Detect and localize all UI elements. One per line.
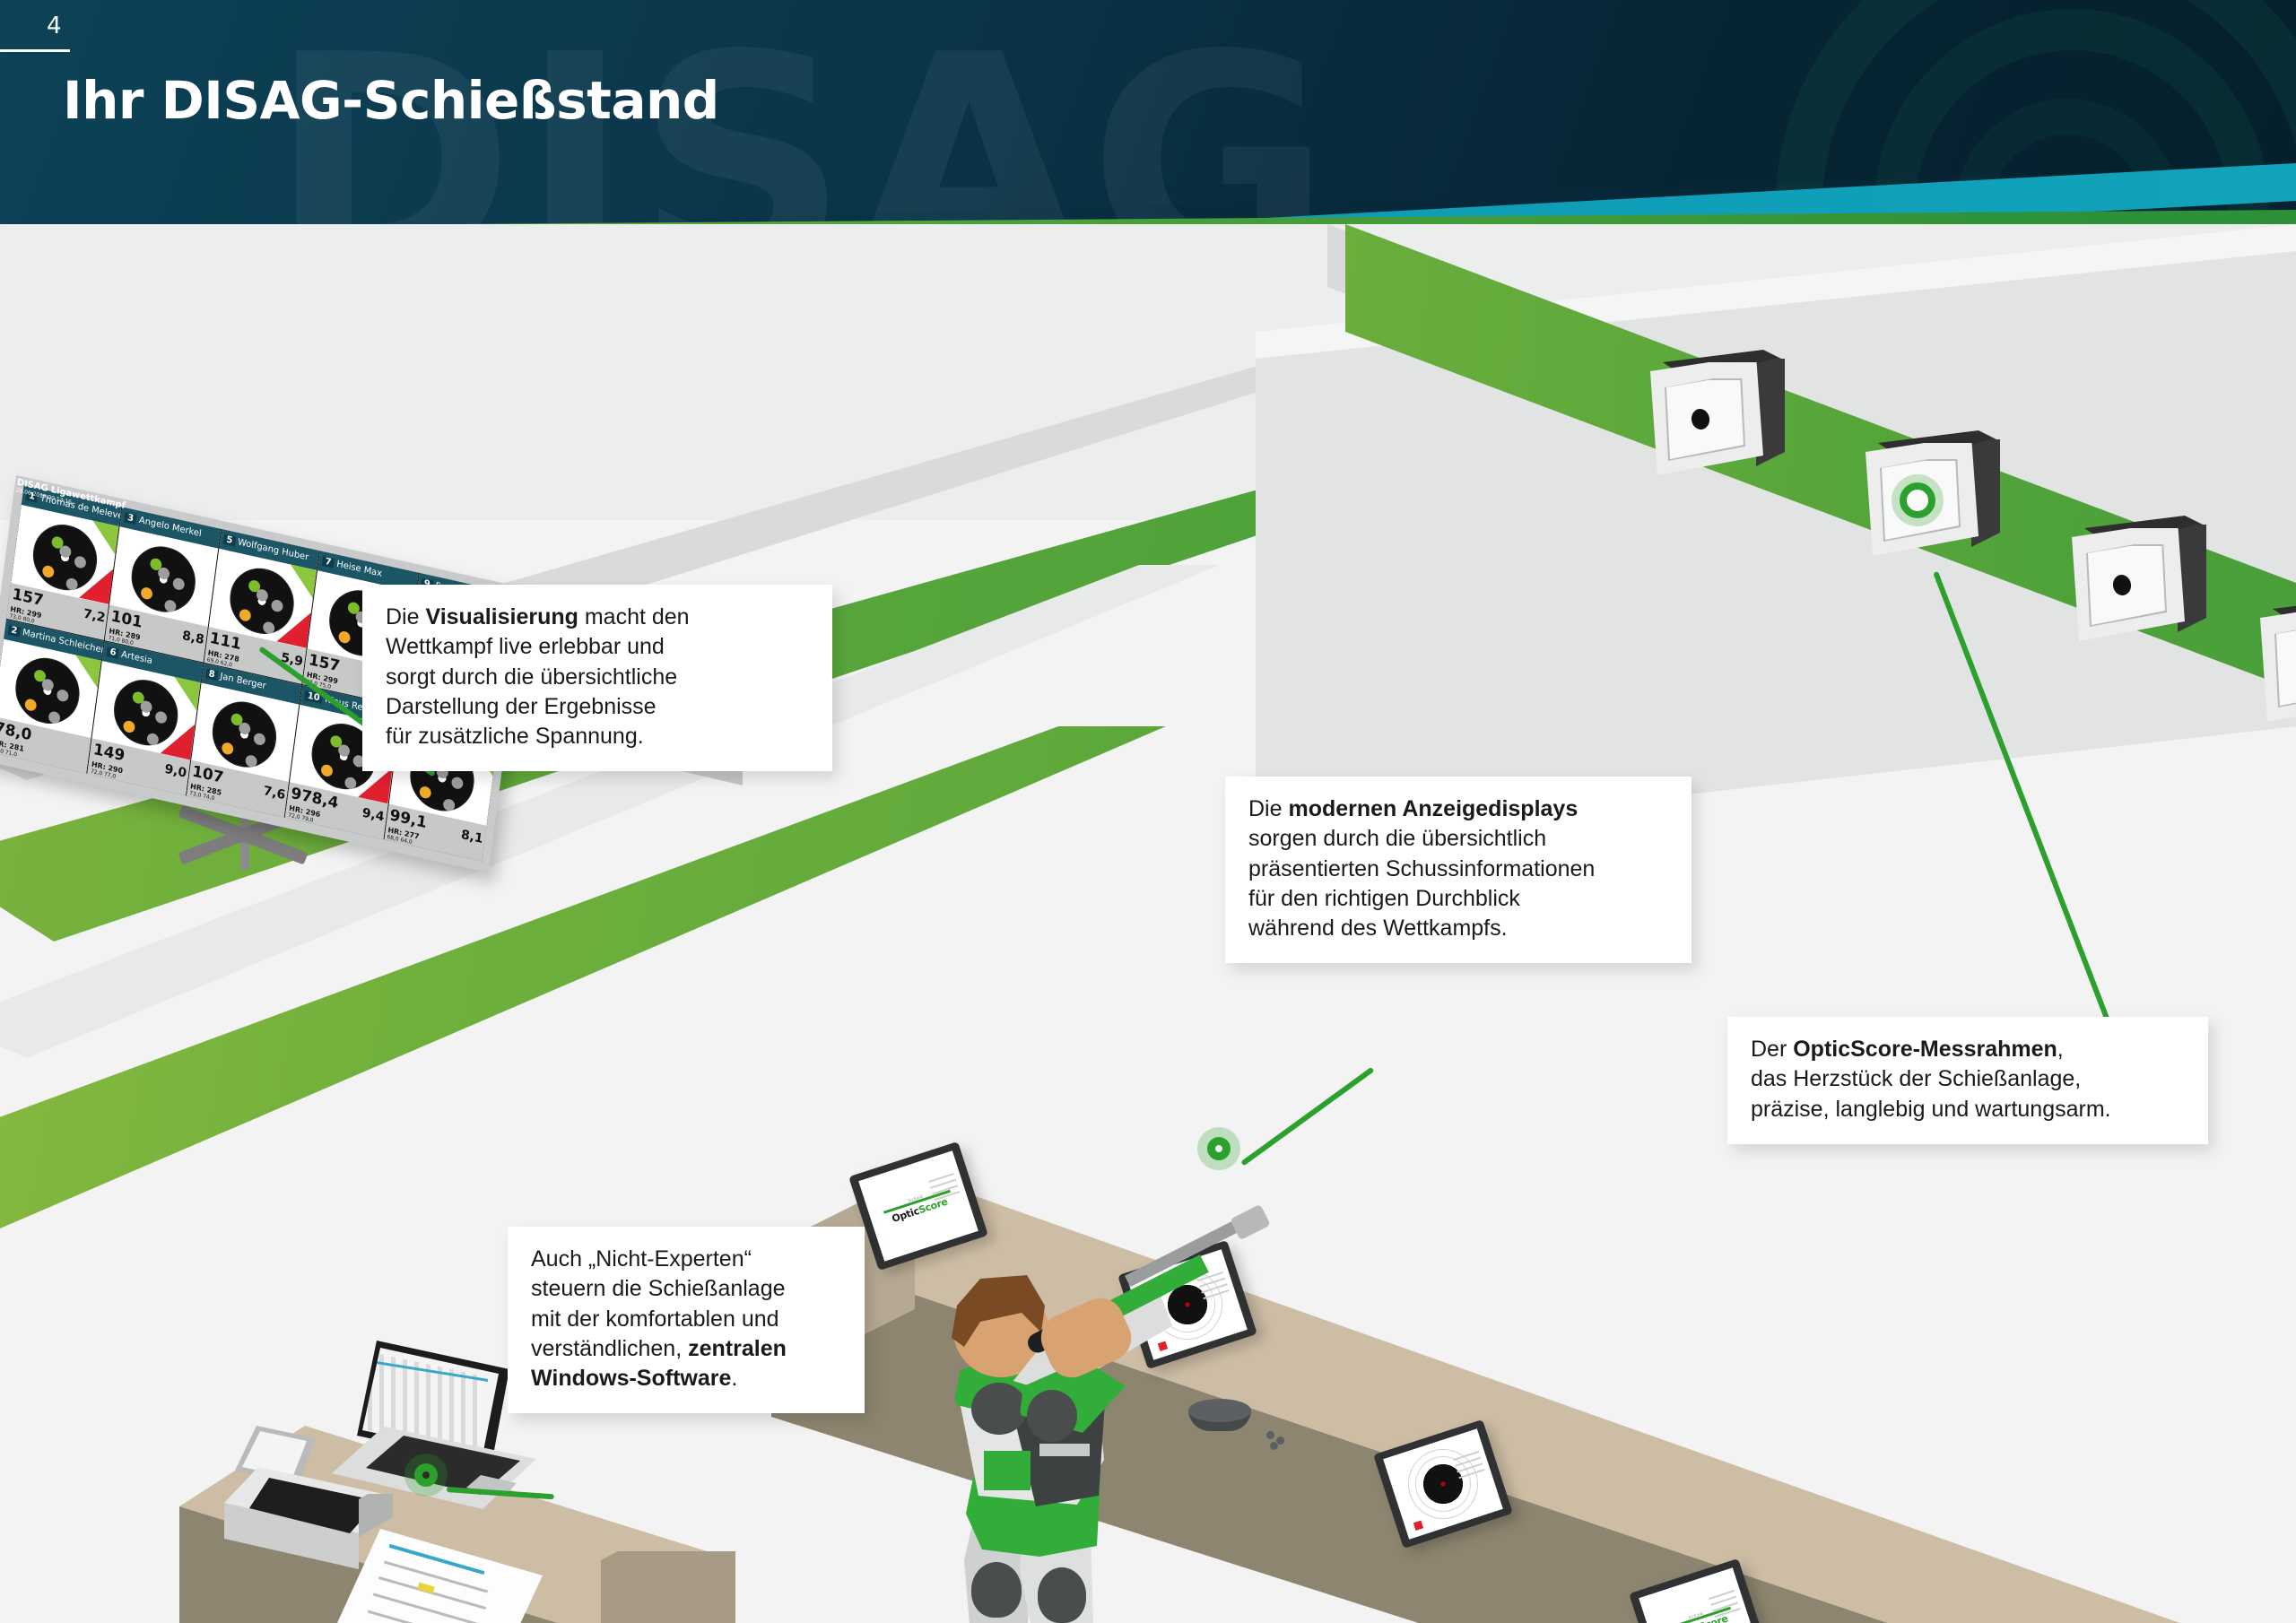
shot-marker bbox=[158, 566, 170, 580]
shot-marker bbox=[239, 608, 252, 622]
shot-marker bbox=[451, 777, 464, 791]
control-desk-right bbox=[592, 1551, 753, 1623]
sheet-row bbox=[384, 1561, 488, 1593]
shot-marker bbox=[74, 555, 86, 569]
shot-marker bbox=[24, 698, 37, 712]
lane-number: 7 bbox=[322, 556, 335, 568]
callout-line: Die modernen Anzeigedisplays bbox=[1248, 794, 1668, 824]
lane-last-shot: 8,1 bbox=[460, 828, 483, 846]
callout-line: Die Visualisierung macht den bbox=[386, 603, 809, 632]
callout-text: Darstellung der Ergebnisse bbox=[386, 694, 657, 719]
wall-target-frame-1 bbox=[1650, 350, 1785, 493]
callout-emphasis: zentralen bbox=[688, 1336, 787, 1361]
status-indicator bbox=[1413, 1521, 1423, 1531]
monitor-lane-cell: 8Jan Berger107HR: 28573,0 74,07,6 bbox=[187, 663, 302, 817]
callout-text: Der bbox=[1751, 1037, 1793, 1062]
shot-marker bbox=[164, 599, 177, 613]
lane-target-graphic bbox=[209, 696, 281, 774]
monitor-lane-cell: 6Artesia149HR: 29072,0 77,09,0 bbox=[88, 641, 204, 795]
shot-marker bbox=[263, 621, 275, 635]
callout-anzeigedisplays: Die modernen Anzeigedisplayssorgen durch… bbox=[1225, 777, 1692, 963]
shot-marker bbox=[338, 630, 351, 645]
lane-shooter-name: Artesia bbox=[121, 649, 153, 666]
callout-text: verständlichen, bbox=[531, 1336, 688, 1361]
callout-text: für zusätzliche Spannung. bbox=[386, 724, 644, 749]
callout-line: für den richtigen Durchblick bbox=[1248, 884, 1668, 914]
lane-last-shot: 9,4 bbox=[361, 805, 385, 824]
shot-marker bbox=[245, 754, 257, 768]
callout-text: während des Wettkampfs. bbox=[1248, 916, 1508, 941]
callout-line: das Herzstück der Schießanlage, bbox=[1751, 1064, 2185, 1094]
callout-text: , bbox=[2057, 1037, 2064, 1062]
lane-number: 8 bbox=[205, 668, 218, 681]
lane-number: 2 bbox=[8, 624, 21, 637]
shot-marker bbox=[154, 710, 167, 725]
callout-text: sorgen durch die übersichtlich bbox=[1248, 826, 1546, 851]
page-title: Ihr DISAG-Schießstand bbox=[63, 70, 719, 131]
shot-marker bbox=[222, 742, 234, 756]
callout-text: Die bbox=[1248, 796, 1288, 821]
vest-strap-3 bbox=[1039, 1444, 1090, 1456]
shot-marker bbox=[271, 599, 283, 613]
shot-marker bbox=[48, 710, 60, 725]
callout-line: für zusätzliche Spannung. bbox=[386, 722, 809, 751]
lane-number: 3 bbox=[125, 512, 137, 525]
wall-target-frame-2 bbox=[1865, 430, 2000, 574]
shooter-figure bbox=[901, 1228, 1224, 1623]
callout-emphasis: modernen Anzeigedisplays bbox=[1288, 796, 1578, 821]
callout-emphasis: Visualisierung bbox=[425, 604, 578, 629]
callout-line: steuern die Schießanlage bbox=[531, 1274, 841, 1304]
page-number: 4 bbox=[47, 13, 62, 39]
shot-marker bbox=[320, 764, 333, 778]
callout-line: Auch „Nicht-Experten“ bbox=[531, 1245, 841, 1274]
callout-text: mit der komfortablen und bbox=[531, 1306, 779, 1332]
shot-marker bbox=[344, 777, 357, 791]
callout-opticscore-messrahmen: Der OpticScore-Messrahmen,das Herzstück … bbox=[1727, 1017, 2208, 1144]
callout-text: steuern die Schießanlage bbox=[531, 1276, 786, 1301]
callout-line: während des Wettkampfs. bbox=[1248, 914, 1668, 943]
connector-dot-display bbox=[1207, 1137, 1231, 1160]
lane-target-graphic bbox=[29, 518, 100, 596]
lane-last-shot: 7,2 bbox=[83, 606, 106, 625]
callout-text: Wettkampf live erlebbar und bbox=[386, 634, 665, 659]
lane-target-graphic bbox=[12, 652, 83, 730]
lane-target-graphic bbox=[110, 673, 182, 751]
callout-text: Auch „Nicht-Experten“ bbox=[531, 1246, 752, 1271]
callout-line: Windows-Software. bbox=[531, 1364, 841, 1393]
callout-text: für den richtigen Durchblick bbox=[1248, 886, 1520, 911]
shooter-elbow-pad-back bbox=[971, 1383, 1027, 1435]
callout-windows-software: Auch „Nicht-Experten“steuern die Schießa… bbox=[508, 1227, 865, 1413]
lane-number: 6 bbox=[107, 647, 119, 659]
connector-dot-software bbox=[414, 1463, 438, 1487]
shot-marker bbox=[65, 577, 78, 591]
shot-marker bbox=[443, 798, 456, 812]
shot-marker bbox=[146, 733, 159, 747]
callout-text: das Herzstück der Schießanlage, bbox=[1751, 1066, 2081, 1091]
shot-marker bbox=[419, 785, 431, 800]
shooter-elbow-pad-front bbox=[1027, 1390, 1077, 1442]
callout-emphasis: Windows-Software bbox=[531, 1366, 731, 1391]
shot-marker bbox=[172, 577, 185, 591]
shot-marker bbox=[254, 733, 266, 747]
page-number-rule bbox=[0, 49, 70, 52]
lane-target-graphic bbox=[227, 562, 299, 640]
callout-line: präsentierten Schussinformationen bbox=[1248, 855, 1668, 884]
callout-line: verständlichen, zentralen bbox=[531, 1334, 841, 1364]
shot-marker bbox=[140, 586, 152, 601]
shot-marker bbox=[123, 720, 135, 734]
callout-line: mit der komfortablen und bbox=[531, 1305, 841, 1334]
wall-target-frame-4 bbox=[2260, 596, 2296, 740]
callout-text: sorgt durch die übersichtliche bbox=[386, 664, 677, 690]
pellets bbox=[1266, 1431, 1290, 1449]
monitor-lane-cell: 3Angelo Merkel101HR: 28971,0 80,08,8 bbox=[105, 508, 221, 662]
page-root: DISAG 4 Ihr DISAG-Schießstand bbox=[0, 0, 2296, 1623]
monitor-lane-cell: 5Wolfgang Huber111HR: 27869,0 62,05,9 bbox=[204, 529, 319, 683]
shooter-knee-pad-back bbox=[971, 1562, 1022, 1618]
shot-marker bbox=[56, 689, 68, 703]
callout-text: macht den bbox=[578, 604, 690, 629]
shot-marker bbox=[140, 700, 152, 715]
wall-target-frame-3 bbox=[2072, 516, 2206, 659]
callout-line: präzise, langlebig und wartungsarm. bbox=[1751, 1095, 2185, 1124]
shot-marker bbox=[239, 722, 251, 736]
shot-marker bbox=[41, 564, 54, 578]
shot-marker bbox=[41, 678, 54, 692]
callout-line: Der OpticScore-Messrahmen, bbox=[1751, 1035, 2185, 1064]
callout-text: . bbox=[731, 1366, 737, 1391]
lane-number: 5 bbox=[223, 534, 236, 547]
lane-target-graphic bbox=[127, 540, 199, 618]
lane-last-shot: 7,6 bbox=[263, 784, 286, 803]
callout-line: sorgt durch die übersichtliche bbox=[386, 663, 809, 692]
callout-text: präzise, langlebig und wartungsarm. bbox=[1751, 1097, 2111, 1122]
callout-line: sorgen durch die übersichtlich bbox=[1248, 824, 1668, 854]
shot-marker bbox=[337, 743, 350, 758]
shooter-knee-pad-front bbox=[1038, 1567, 1086, 1623]
lane-last-shot: 9,0 bbox=[164, 762, 187, 781]
illustration-scene: 1Thomas de Meleven157HR: 29973,0 80,07,2… bbox=[0, 224, 2296, 1623]
shooter-pocket bbox=[984, 1451, 1031, 1490]
sheet-highlight bbox=[417, 1583, 435, 1594]
lane-last-shot: 8,8 bbox=[181, 628, 204, 647]
callout-text: Die bbox=[386, 604, 425, 629]
callout-line: Darstellung der Ergebnisse bbox=[386, 692, 809, 722]
callout-text: präsentierten Schussinformationen bbox=[1248, 856, 1595, 881]
shot-marker bbox=[58, 544, 71, 559]
callout-line: Wettkampf live erlebbar und bbox=[386, 632, 809, 662]
shot-marker bbox=[257, 588, 269, 603]
opticscore-connector-ring bbox=[1900, 482, 1935, 518]
callout-visualisierung: Die Visualisierung macht denWettkampf li… bbox=[362, 585, 832, 771]
monitor-lane-cell: 2Martina Schleicher78,0HR: 28166,0 71,0 bbox=[0, 619, 104, 773]
callout-emphasis: OpticScore-Messrahmen bbox=[1793, 1037, 2057, 1062]
